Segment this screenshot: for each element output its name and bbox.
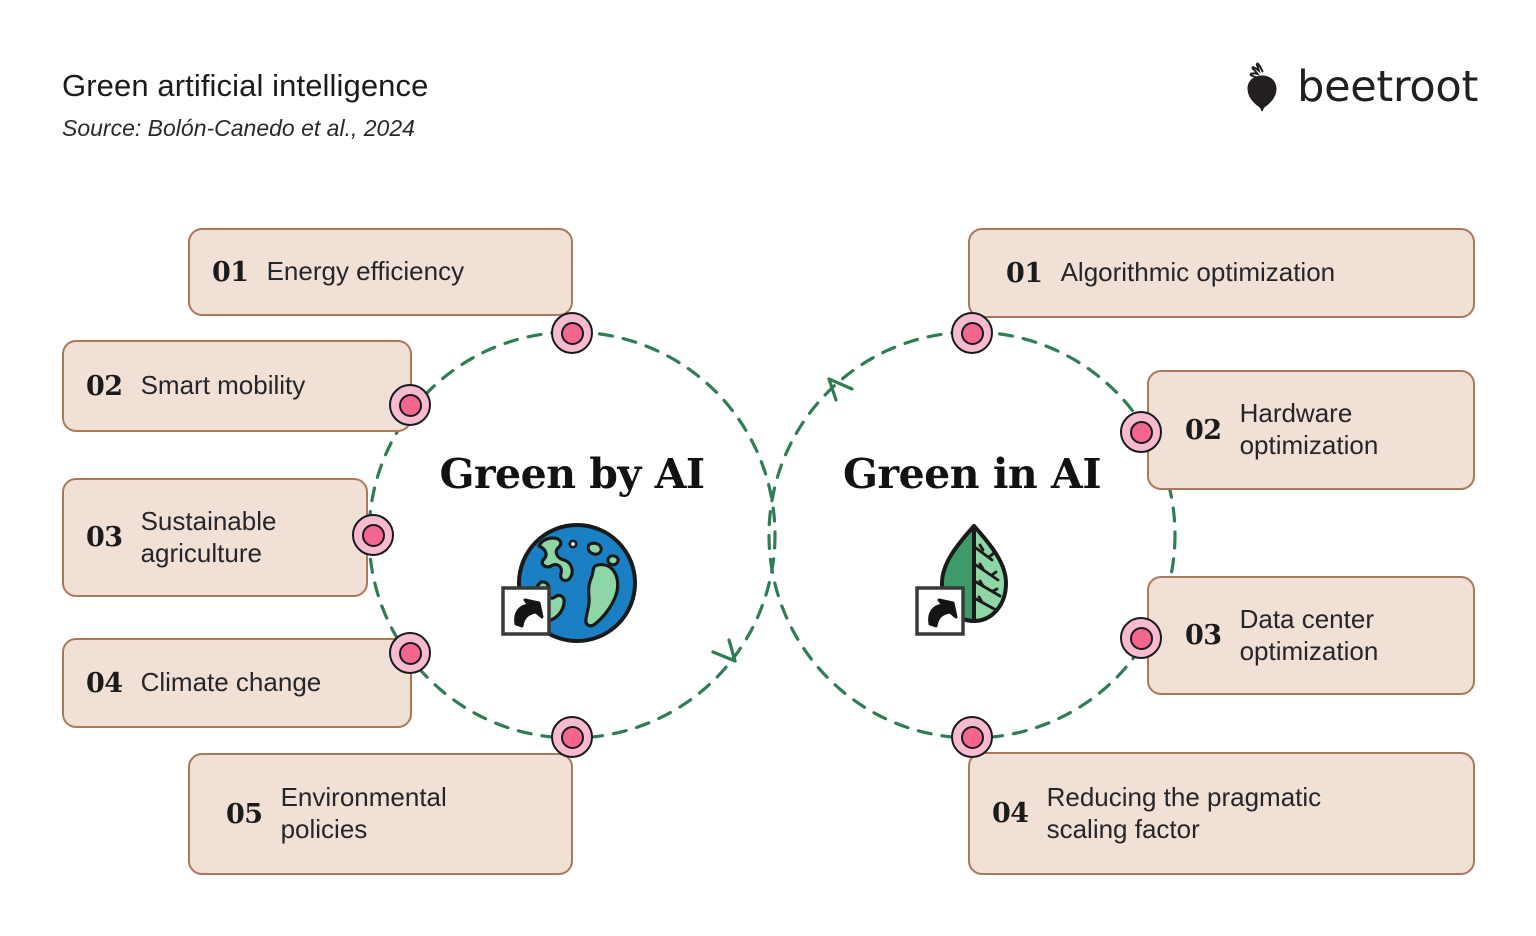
card-number: 02 [1185, 415, 1222, 446]
card-green-by-ai-02[interactable]: 02 Smart mobility [62, 340, 412, 432]
connector-dot-left-01 [551, 312, 593, 354]
card-green-in-ai-04[interactable]: 04 Reducing the pragmatic scaling factor [968, 752, 1475, 875]
connector-dot-left-03 [352, 514, 394, 556]
connector-dot-right-04 [951, 716, 993, 758]
cluster-title-green-in-ai: Green in AI [843, 450, 1101, 498]
card-number: 02 [86, 371, 123, 402]
card-label: Environmental policies [281, 782, 496, 845]
card-number: 01 [212, 257, 249, 288]
connector-dot-right-03 [1120, 617, 1162, 659]
card-green-in-ai-03[interactable]: 03 Data center optimization [1147, 576, 1475, 695]
card-label: Reducing the pragmatic scaling factor [1047, 782, 1407, 845]
card-label: Sustainable agriculture [141, 506, 331, 569]
card-green-by-ai-05[interactable]: 05 Environmental policies [188, 753, 573, 875]
connector-dot-left-02 [389, 384, 431, 426]
card-label: Algorithmic optimization [1061, 257, 1336, 289]
globe-icon [497, 520, 647, 655]
card-label: Smart mobility [141, 370, 306, 402]
connector-dot-left-05 [551, 716, 593, 758]
card-label: Energy efficiency [267, 256, 465, 288]
card-green-by-ai-03[interactable]: 03 Sustainable agriculture [62, 478, 368, 597]
arrowhead-right-counterclockwise [829, 379, 852, 400]
leaf-icon [897, 520, 1047, 655]
connector-dot-right-01 [951, 312, 993, 354]
card-number: 04 [86, 668, 123, 699]
card-green-in-ai-01[interactable]: 01 Algorithmic optimization [968, 228, 1475, 318]
card-number: 04 [992, 798, 1029, 829]
card-number: 03 [86, 522, 123, 553]
card-label: Data center optimization [1240, 604, 1415, 667]
card-green-by-ai-01[interactable]: 01 Energy efficiency [188, 228, 573, 316]
connector-dot-right-02 [1120, 411, 1162, 453]
card-label: Climate change [141, 667, 322, 699]
card-number: 01 [1006, 258, 1043, 289]
cluster-title-green-by-ai: Green by AI [439, 450, 704, 498]
card-green-in-ai-02[interactable]: 02 Hardware optimization [1147, 370, 1475, 490]
card-number: 05 [226, 799, 263, 830]
card-number: 03 [1185, 620, 1222, 651]
card-green-by-ai-04[interactable]: 04 Climate change [62, 638, 412, 728]
card-label: Hardware optimization [1240, 398, 1415, 461]
connector-dot-left-04 [389, 632, 431, 674]
infographic-canvas: Green artificial intelligence Source: Bo… [0, 0, 1536, 936]
